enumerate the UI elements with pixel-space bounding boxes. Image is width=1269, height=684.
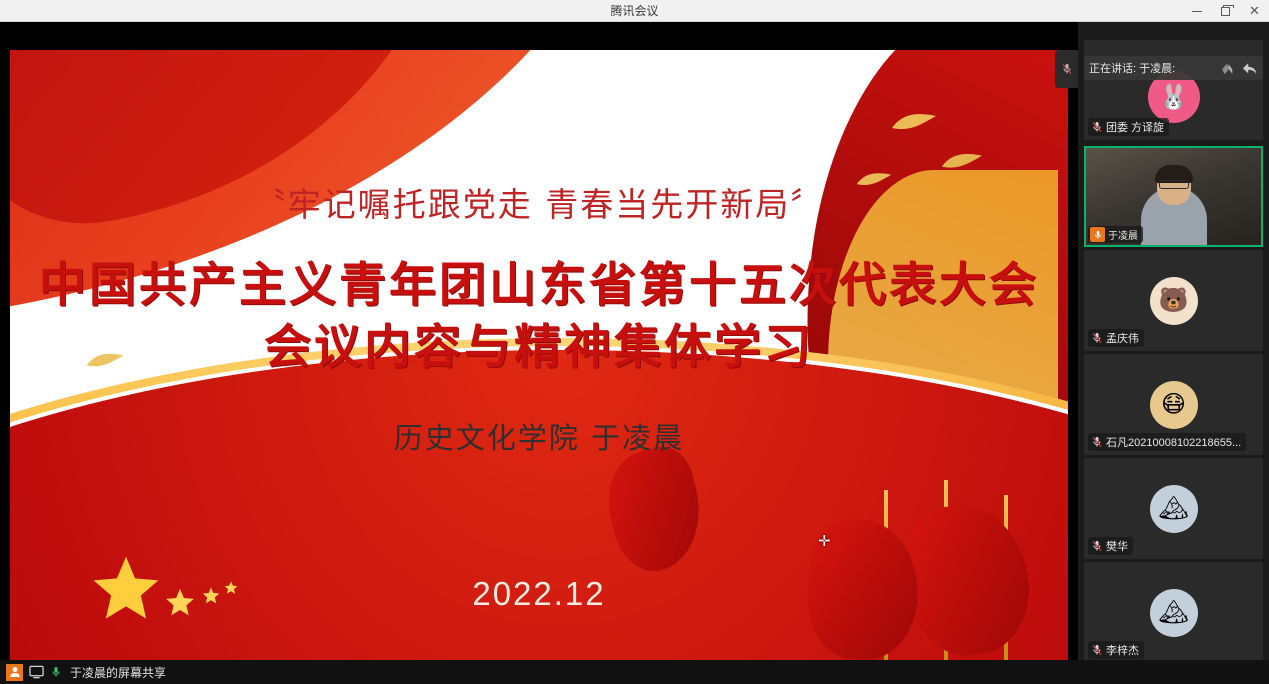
mic-muted-icon [1091, 436, 1103, 448]
avatar-glyph-3: 😷 [1161, 390, 1186, 419]
panel-collapse-tab[interactable] [1055, 50, 1078, 88]
speaking-now-label: 正在讲话: 于凌晨: [1089, 60, 1220, 76]
mic-muted-icon [1061, 63, 1073, 75]
slide-main-title: 中国共产主义青年团山东省第十五次代表大会 会议内容与精神集体学习 [10, 255, 1068, 379]
mic-muted-icon [1091, 332, 1103, 344]
participant-thumbnail-1[interactable]: 于凌晨 [1084, 146, 1263, 247]
mic-muted-icon [1091, 540, 1103, 552]
participant-name-chip-0: 团委 方译旋 [1088, 118, 1169, 136]
active-speaker-badge [1090, 227, 1105, 242]
slide-presenter: 历史文化学院 于凌晨 [10, 415, 1068, 457]
participant-name-4: 樊华 [1106, 538, 1128, 554]
video-glasses-1 [1159, 180, 1189, 189]
avatar-glyph-5: 🏔 [1158, 598, 1188, 627]
close-button[interactable]: ✕ [1240, 0, 1269, 22]
participant-name-chip-4: 樊华 [1088, 537, 1133, 555]
reply-arrow-icon[interactable] [1242, 61, 1258, 76]
screen-share-icon[interactable] [29, 665, 44, 679]
slide-title-line-2: 会议内容与精神集体学习 [10, 317, 1068, 379]
slide-subtitle: 〝牢记嘱托跟党走 青春当先开新局〞 [10, 178, 1068, 226]
participant-name-3: 石凡20210008102218655... [1106, 434, 1241, 450]
avatar-4: 🏔 [1150, 485, 1198, 533]
participants-icon[interactable] [6, 664, 23, 681]
participant-name-5: 李梓杰 [1106, 642, 1139, 658]
mic-muted-icon [1091, 121, 1103, 133]
participant-name-chip-3: 石凡20210008102218655... [1088, 433, 1246, 451]
avatar-glyph-2: 🐻 [1159, 286, 1189, 315]
avatar-glyph-0: 🐰 [1159, 83, 1189, 112]
participant-thumbnail-5[interactable]: 🏔 李梓杰 [1084, 562, 1263, 663]
avatar-3: 😷 [1150, 381, 1198, 429]
participant-thumbnail-0[interactable]: 🐰 团委 方译旋 [1084, 40, 1263, 140]
screen-share-owner-label: 于凌晨的屏幕共享 [70, 664, 166, 681]
layout-switch-icon[interactable] [1220, 61, 1239, 76]
banner-icon-group [1220, 61, 1258, 76]
mic-on-icon[interactable] [50, 665, 62, 679]
avatar-glyph-4: 🏔 [1158, 494, 1188, 523]
restore-button[interactable] [1211, 0, 1240, 22]
participant-name-1: 于凌晨 [1108, 227, 1138, 242]
minimize-button[interactable] [1182, 0, 1211, 22]
participant-thumbnail-panel: 正在讲话: 于凌晨: 🐰 团委 方译旋 [1078, 22, 1269, 660]
participant-name-0: 团委 方译旋 [1106, 119, 1164, 135]
avatar-5: 🏔 [1150, 589, 1198, 637]
close-icon: ✕ [1249, 5, 1260, 18]
restore-icon [1221, 7, 1230, 16]
participant-name-chip-1: 于凌晨 [1088, 226, 1143, 243]
participant-name-2: 孟庆伟 [1106, 330, 1139, 346]
screen-share-status-bar: 于凌晨的屏幕共享 [0, 660, 1269, 684]
participant-thumbnail-2[interactable]: 🐻 孟庆伟 [1084, 250, 1263, 351]
presentation-slide: 〝牢记嘱托跟党走 青春当先开新局〞 中国共产主义青年团山东省第十五次代表大会 会… [10, 50, 1068, 660]
window-controls: ✕ [1182, 0, 1269, 22]
slide-date: 2022.12 [10, 575, 1068, 613]
avatar-2: 🐻 [1150, 277, 1198, 325]
participant-name-chip-5: 李梓杰 [1088, 641, 1144, 659]
participant-thumbnail-3[interactable]: 😷 石凡20210008102218655... [1084, 354, 1263, 455]
slide-text-block: 〝牢记嘱托跟党走 青春当先开新局〞 中国共产主义青年团山东省第十五次代表大会 会… [10, 50, 1068, 660]
slide-title-line-1: 中国共产主义青年团山东省第十五次代表大会 [10, 255, 1068, 317]
participant-thumbnail-4[interactable]: 🏔 樊华 [1084, 458, 1263, 559]
mic-on-icon [1093, 230, 1103, 240]
shared-screen-stage: 〝牢记嘱托跟党走 青春当先开新局〞 中国共产主义青年团山东省第十五次代表大会 会… [0, 22, 1078, 660]
window-titlebar: 腾讯会议 ✕ [0, 0, 1269, 22]
window-title: 腾讯会议 [0, 0, 1269, 22]
mouse-cursor-crosshair: ✛ [818, 534, 831, 549]
participant-name-chip-2: 孟庆伟 [1088, 329, 1144, 347]
minimize-icon [1192, 11, 1202, 12]
mic-muted-icon [1091, 644, 1103, 656]
speaking-now-banner: 正在讲话: 于凌晨: [1084, 56, 1263, 80]
